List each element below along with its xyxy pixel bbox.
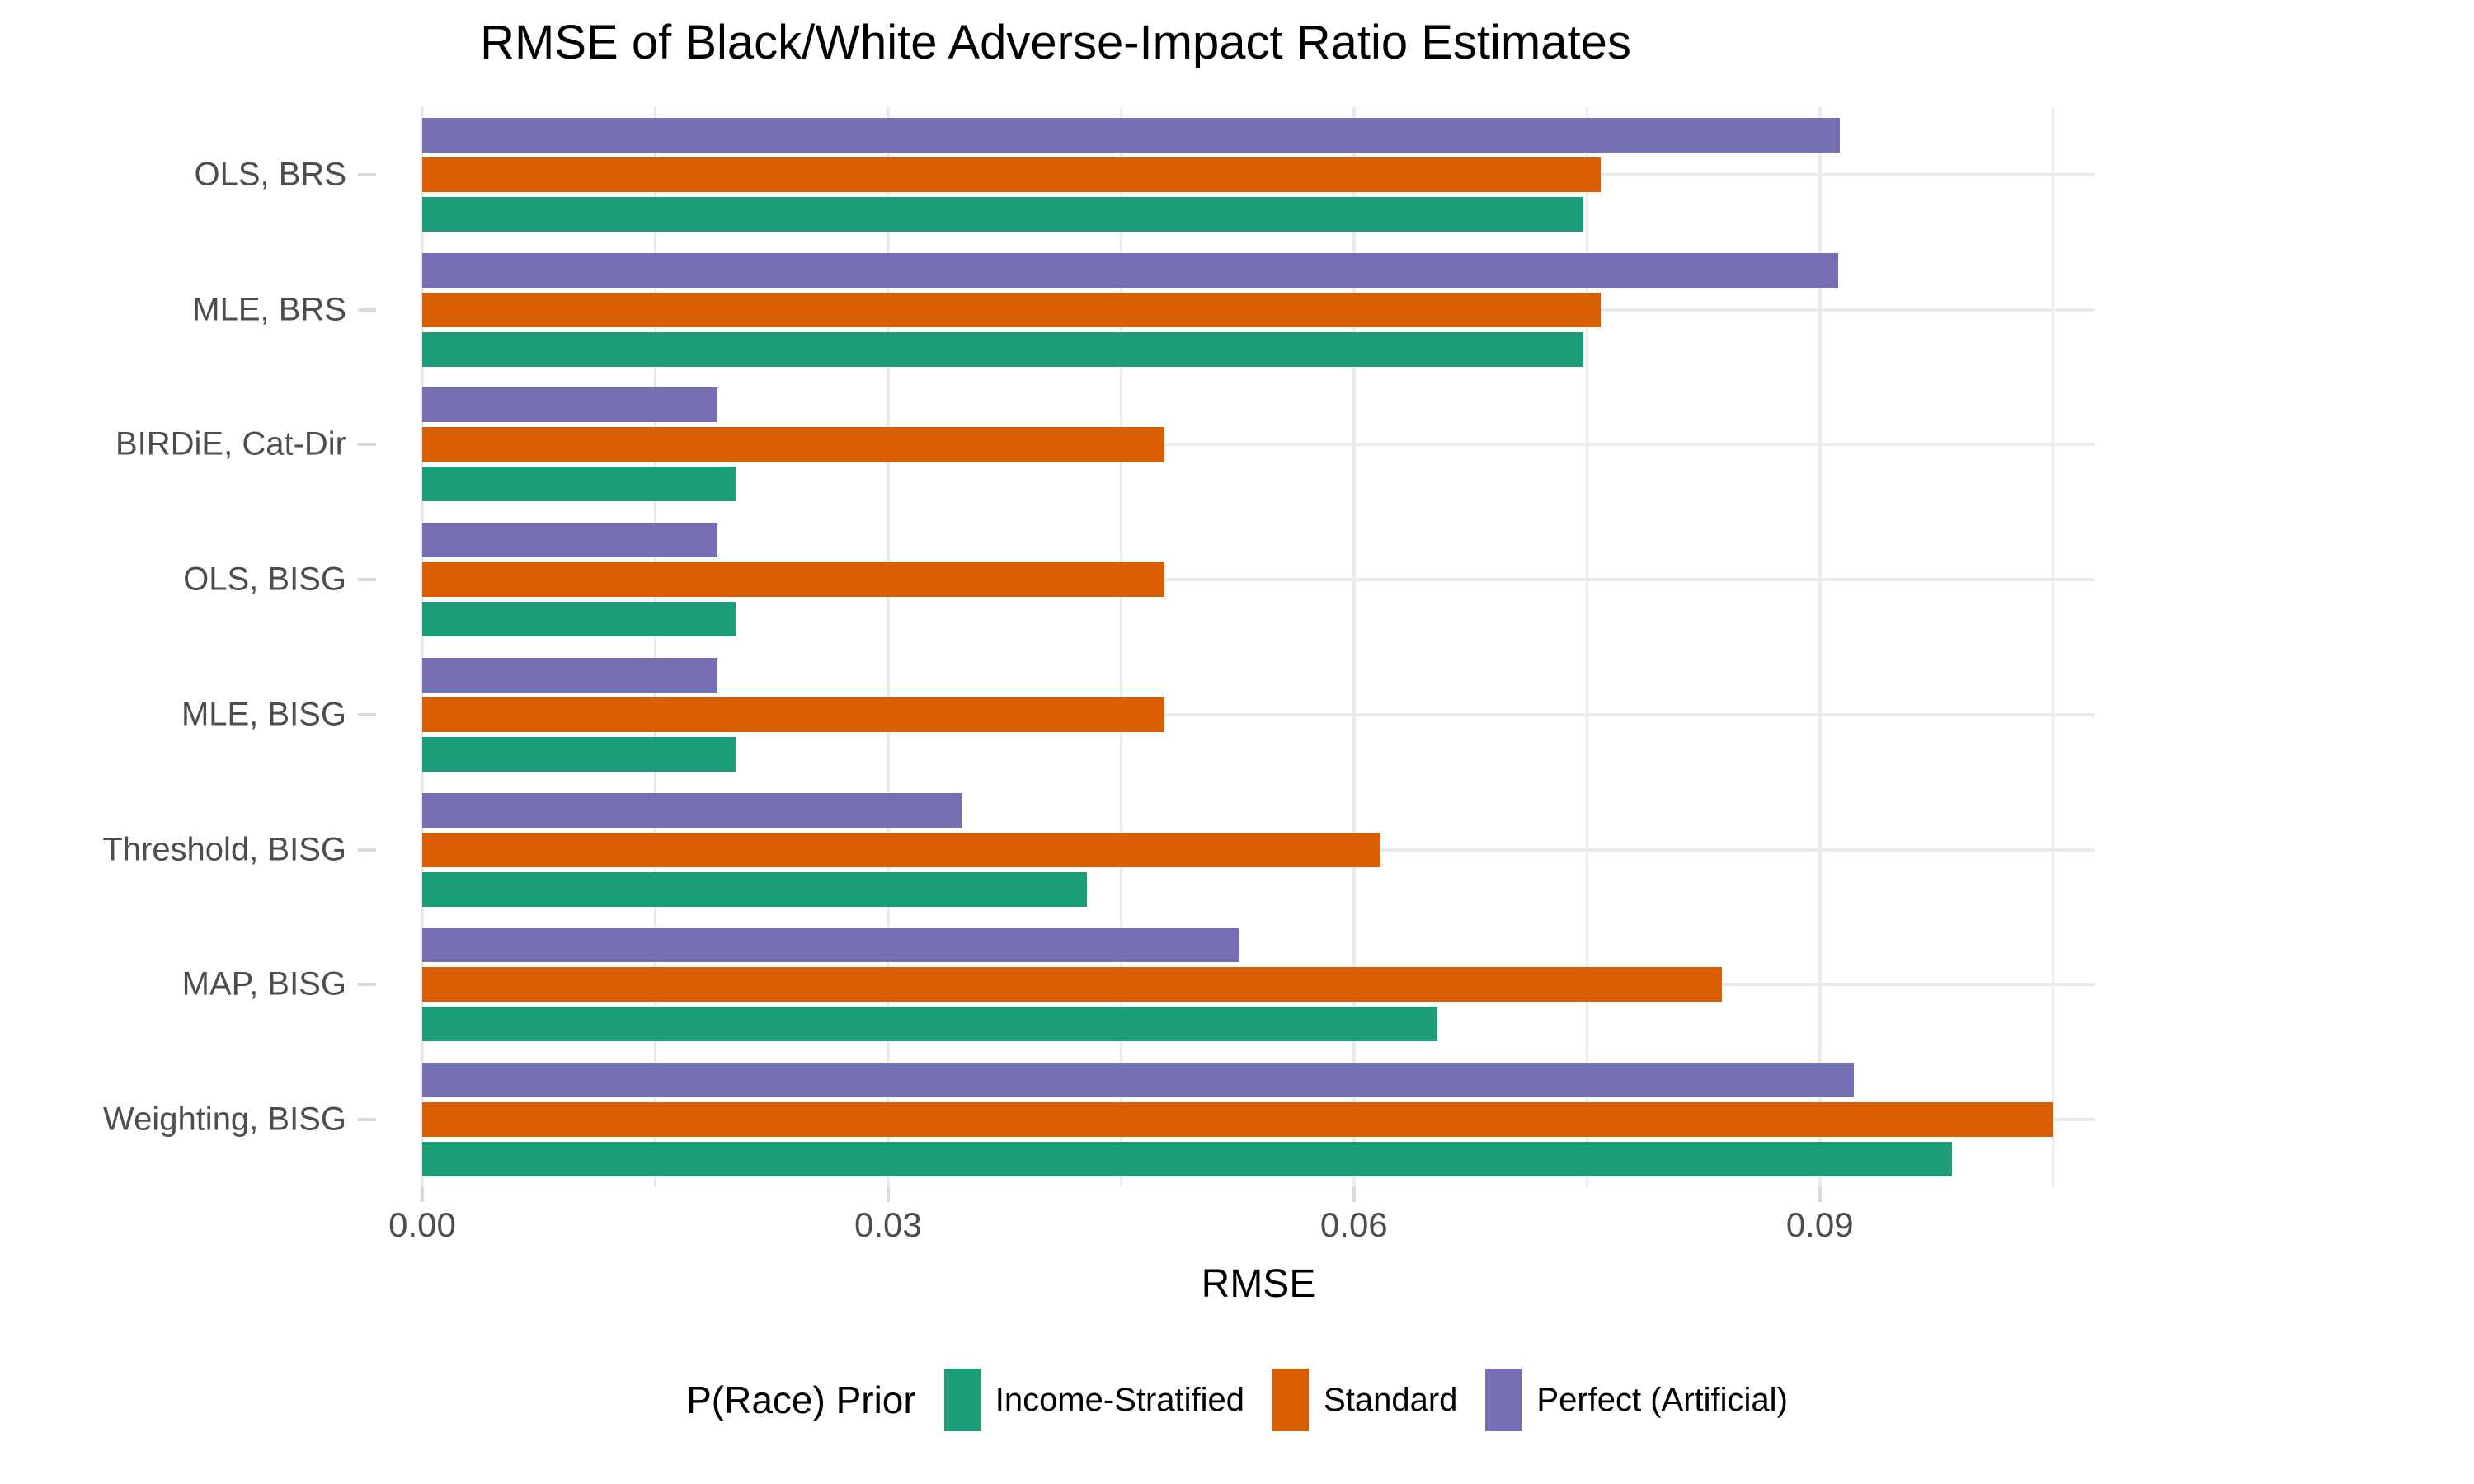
bar-income-stratified — [422, 737, 736, 772]
legend-swatch-icon — [1485, 1369, 1522, 1431]
y-axis-tick-mark — [358, 173, 376, 176]
bar-standard — [422, 697, 1164, 732]
bar-income-stratified — [422, 1007, 1437, 1041]
bar-perfect-artificial- — [422, 658, 717, 693]
y-axis-tick-label: BIRDiE, Cat-Dir — [115, 426, 346, 463]
bar-perfect-artificial- — [422, 118, 1840, 153]
bar-income-stratified — [422, 1142, 1952, 1176]
bar-income-stratified — [422, 467, 736, 501]
legend-swatch-icon — [944, 1369, 981, 1431]
y-axis-tick-mark — [358, 578, 376, 581]
y-axis-tick-mark — [358, 308, 376, 312]
legend-item-label: Perfect (Artificial) — [1536, 1382, 1788, 1419]
x-axis-tick-label: 0.06 — [1320, 1205, 1388, 1245]
bar-perfect-artificial- — [422, 927, 1239, 962]
bar-perfect-artificial- — [422, 793, 962, 828]
x-axis-tick-mark — [887, 1187, 890, 1202]
y-axis-tick-mark — [358, 1118, 376, 1121]
legend-item-label: Standard — [1324, 1382, 1457, 1419]
bar-perfect-artificial- — [422, 253, 1838, 288]
x-axis-ticks — [422, 1187, 2095, 1204]
legend-item[interactable]: Income-Stratified — [944, 1369, 1244, 1431]
bar-perfect-artificial- — [422, 523, 717, 557]
chart-title: RMSE of Black/White Adverse-Impact Ratio… — [0, 15, 2111, 70]
y-axis-tick-mark — [358, 443, 376, 446]
chart-container: RMSE of Black/White Adverse-Impact Ratio… — [0, 0, 2474, 1484]
legend-item[interactable]: Standard — [1272, 1369, 1457, 1431]
y-axis-tick-label: MLE, BRS — [192, 291, 346, 328]
bar-standard — [422, 967, 1722, 1002]
x-axis-tick-label: 0.03 — [854, 1205, 922, 1245]
y-axis: OLS, BRSMLE, BRSBIRDiE, Cat-DirOLS, BISG… — [0, 107, 388, 1187]
y-axis-tick-label: MAP, BISG — [182, 966, 346, 1003]
x-axis-tick-mark — [421, 1187, 424, 1202]
y-axis-tick-mark — [358, 983, 376, 986]
plot-panel — [422, 107, 2095, 1187]
x-axis-tick-mark — [1352, 1187, 1356, 1202]
legend-swatch-icon — [1272, 1369, 1309, 1431]
y-axis-tick-mark — [358, 713, 376, 716]
x-axis-title: RMSE — [422, 1261, 2095, 1307]
bar-income-stratified — [422, 197, 1583, 232]
y-axis-tick-label: Threshold, BISG — [102, 831, 346, 868]
y-axis-tick-label: OLS, BISG — [183, 561, 346, 599]
legend-title: P(Race) Prior — [686, 1378, 916, 1422]
y-axis-tick-label: MLE, BISG — [181, 696, 346, 733]
gridline-minor — [2052, 107, 2054, 1187]
bar-standard — [422, 562, 1164, 597]
bar-standard — [422, 1102, 2053, 1137]
x-axis-tick-mark — [1818, 1187, 1822, 1202]
bar-perfect-artificial- — [422, 387, 717, 422]
legend-item[interactable]: Perfect (Artificial) — [1485, 1369, 1788, 1431]
bar-income-stratified — [422, 332, 1583, 367]
bar-standard — [422, 833, 1380, 867]
x-axis-tick-label: 0.09 — [1786, 1205, 1854, 1245]
y-axis-tick-mark — [358, 848, 376, 852]
bar-perfect-artificial- — [422, 1063, 1854, 1097]
x-axis-tick-label: 0.00 — [388, 1205, 456, 1245]
y-axis-tick-label: Weighting, BISG — [103, 1101, 346, 1139]
bar-standard — [422, 427, 1164, 462]
bar-income-stratified — [422, 602, 736, 636]
legend-item-label: Income-Stratified — [995, 1382, 1244, 1419]
y-axis-tick-label: OLS, BRS — [194, 156, 346, 193]
legend: P(Race) Prior Income-StratifiedStandardP… — [0, 1369, 2474, 1431]
bar-standard — [422, 293, 1601, 327]
bar-standard — [422, 157, 1601, 192]
bar-income-stratified — [422, 872, 1087, 907]
